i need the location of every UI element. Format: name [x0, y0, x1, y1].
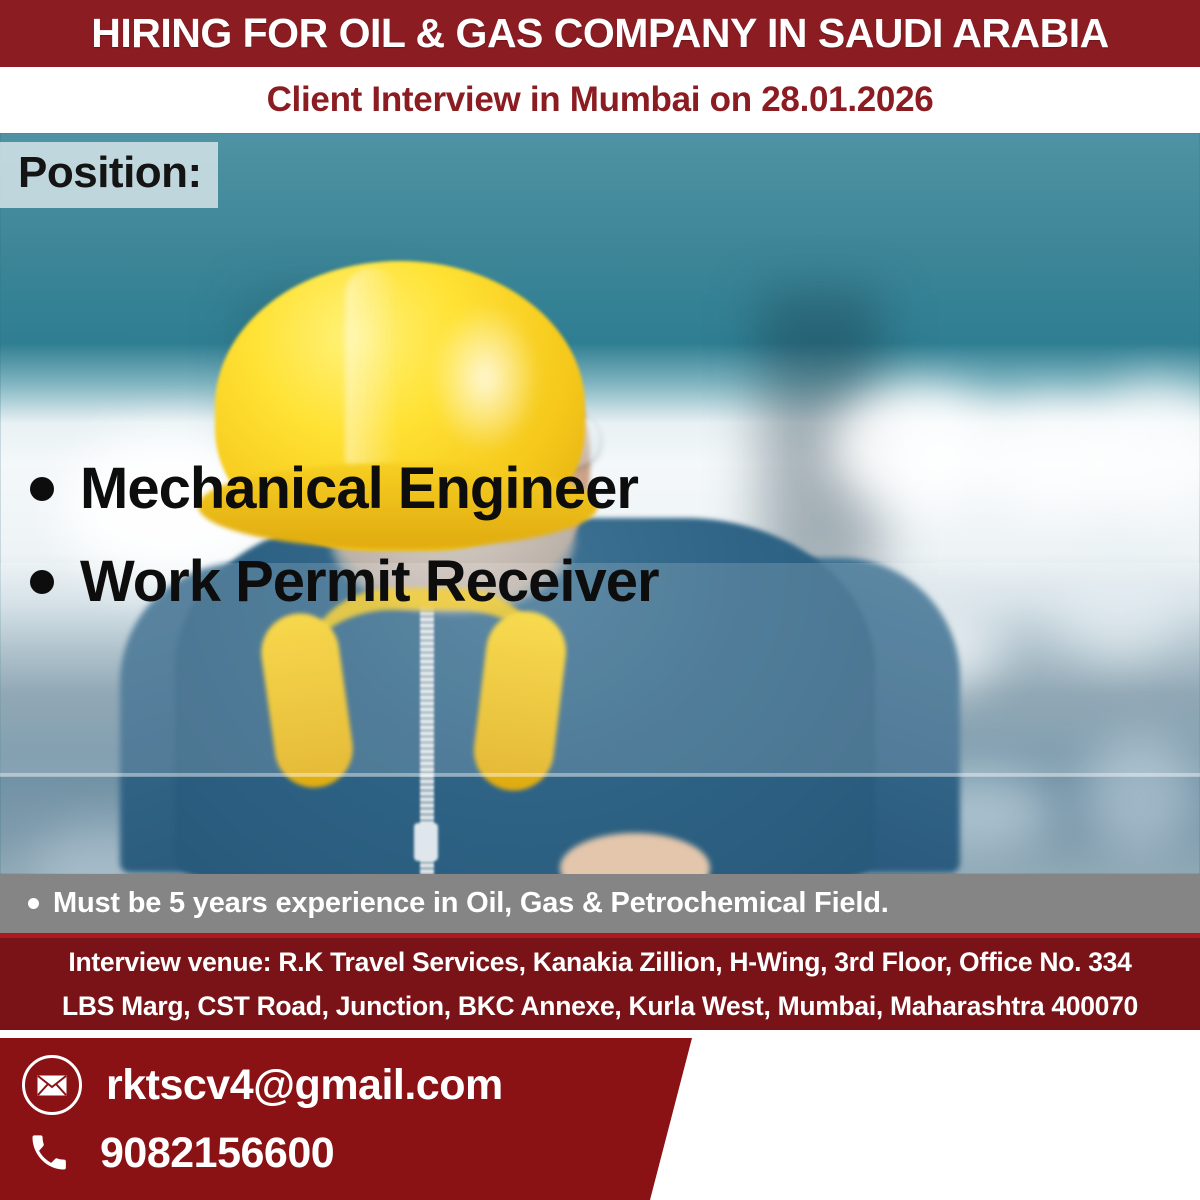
poster-footer: rktscv4@gmail.com 9082156600	[0, 1030, 1200, 1200]
text-overlay-band-edge	[0, 773, 1200, 777]
job-list: Mechanical Engineer Work Permit Receiver	[30, 455, 930, 641]
position-label-box: Position:	[0, 142, 218, 208]
requirement-bar: Must be 5 years experience in Oil, Gas &…	[0, 874, 1200, 933]
bullet-icon	[30, 570, 54, 594]
job-title: Mechanical Engineer	[80, 455, 638, 522]
poster-header-bar: HIRING FOR OIL & GAS COMPANY IN SAUDI AR…	[0, 0, 1200, 67]
interview-date-subtitle: Client Interview in Mumbai on 28.01.2026	[267, 80, 934, 120]
bullet-icon	[30, 477, 54, 501]
job-poster: HIRING FOR OIL & GAS COMPANY IN SAUDI AR…	[0, 0, 1200, 1200]
venue-band: Interview venue: R.K Travel Services, Ka…	[0, 938, 1200, 1030]
contact-phone-row[interactable]: 9082156600	[22, 1126, 334, 1180]
contact-email[interactable]: rktscv4@gmail.com	[106, 1061, 503, 1110]
bullet-icon	[28, 898, 39, 909]
hard-hat-ridge	[345, 268, 399, 483]
contact-email-row[interactable]: rktscv4@gmail.com	[22, 1055, 503, 1115]
contact-phone[interactable]: 9082156600	[100, 1129, 334, 1178]
envelope-icon	[22, 1055, 82, 1115]
phone-icon	[22, 1126, 76, 1180]
page-title: HIRING FOR OIL & GAS COMPANY IN SAUDI AR…	[91, 10, 1108, 57]
position-label: Position:	[18, 148, 202, 197]
coverall-zipper-pull	[414, 823, 438, 861]
list-item: Work Permit Receiver	[30, 548, 930, 615]
requirement-text: Must be 5 years experience in Oil, Gas &…	[53, 887, 889, 920]
hard-hat-highlight	[430, 303, 540, 453]
list-item: Mechanical Engineer	[30, 455, 930, 522]
venue-address-line-1: Interview venue: R.K Travel Services, Ka…	[68, 940, 1131, 984]
venue-address-line-2: LBS Marg, CST Road, Junction, BKC Annexe…	[62, 984, 1138, 1028]
job-title: Work Permit Receiver	[80, 548, 659, 615]
poster-subheader-bar: Client Interview in Mumbai on 28.01.2026	[0, 67, 1200, 133]
